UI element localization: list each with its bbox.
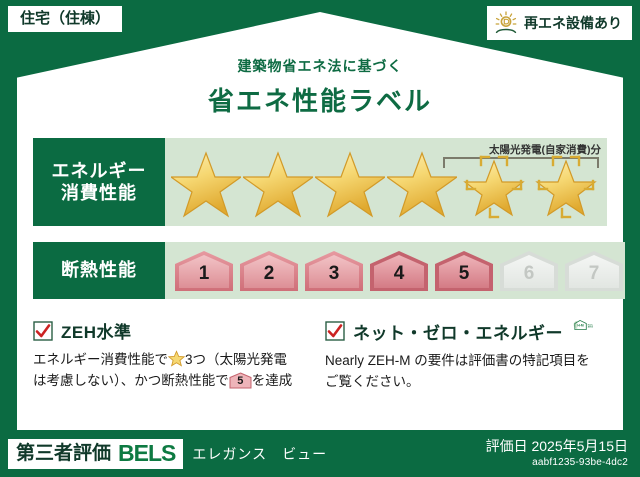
insulation-badge: 3	[303, 249, 365, 293]
nearly-zeh-m-logo-icon: H-M Nearly ZEH-M	[571, 318, 593, 344]
net-zero-energy-block: ネット・ゼロ・エネルギー H-M Nearly ZEH-M Nearly ZEH…	[325, 318, 593, 393]
checkbox-checked-icon	[325, 321, 345, 341]
checkbox-checked-icon	[33, 321, 53, 341]
insulation-performance-row: 断熱性能 1	[33, 242, 607, 299]
label-title-block: 建築物省エネ法に基づく 省エネ性能ラベル	[0, 56, 640, 118]
title-subtitle: 建築物省エネ法に基づく	[0, 56, 640, 76]
energy-label-line1: エネルギー	[52, 160, 147, 183]
star-icon-solar	[531, 145, 601, 219]
star-icon	[171, 145, 241, 219]
svg-text:ZEH-M: ZEH-M	[588, 326, 593, 328]
svg-text:H-M: H-M	[577, 323, 584, 327]
evaluation-meta: 評価日 2025年5月15日 aabf1235-93be-4dc2	[486, 438, 628, 469]
insulation-badge-inline-value: 5	[229, 372, 252, 389]
energy-label-root: 住宅（住棟） 再エネ設備あり 建築物省エネ法に基づく	[0, 0, 640, 477]
zeh-star-count: 3つ（太陽光発電	[185, 352, 287, 367]
sun-icon	[493, 10, 519, 36]
energy-performance-value: 太陽光発電(自家消費)分	[165, 138, 607, 226]
insulation-badge-value: 2	[238, 264, 300, 283]
insulation-level-badges: 1 2 3	[165, 249, 625, 293]
insulation-badge-inline: 5	[229, 372, 252, 389]
title-main: 省エネ性能ラベル	[0, 81, 640, 118]
energy-performance-key: エネルギー 消費性能	[33, 138, 165, 226]
zeh-standard-block: ZEH水準 エネルギー消費性能で3つ（太陽光発電 は考慮しない）、かつ断熱性能で…	[33, 318, 301, 392]
insulation-label: 断熱性能	[61, 259, 137, 282]
insulation-badge: 4	[368, 249, 430, 293]
footer-bar: 第三者評価 BELS エレガンス ビュー 評価日 2025年5月15日 aabf…	[0, 430, 640, 477]
insulation-performance-key: 断熱性能	[33, 242, 165, 299]
third-party-evaluation-label: 第三者評価	[16, 444, 111, 463]
star-icon-solar	[459, 145, 529, 219]
net-zero-energy-title: ネット・ゼロ・エネルギー	[353, 319, 563, 344]
bels-logo: BELS	[118, 442, 175, 465]
zeh-text-c: を達成	[252, 373, 293, 388]
insulation-badge-value: 5	[433, 264, 495, 283]
star-icon	[315, 145, 385, 219]
energy-performance-row: エネルギー 消費性能 太陽光発電(自家消費)分	[33, 138, 607, 226]
zeh-standard-description: エネルギー消費性能で3つ（太陽光発電 は考慮しない）、かつ断熱性能で5を達成	[33, 350, 301, 392]
zeh-standard-heading: ZEH水準	[33, 318, 301, 343]
insulation-badge-value: 3	[303, 264, 365, 283]
insulation-badge: 5	[433, 249, 495, 293]
insulation-badge: 2	[238, 249, 300, 293]
star-rating	[165, 145, 601, 219]
building-name: エレガンス ビュー	[192, 444, 327, 464]
net-zero-energy-heading: ネット・ゼロ・エネルギー H-M Nearly ZEH-M	[325, 318, 593, 344]
svg-text:Nearly: Nearly	[588, 323, 593, 326]
renewable-equipment-tag: 再エネ設備あり	[487, 6, 632, 40]
energy-label-line2: 消費性能	[61, 182, 137, 205]
star-icon-inline	[168, 350, 185, 367]
zeh-standard-title: ZEH水準	[61, 318, 132, 343]
star-icon	[387, 145, 457, 219]
insulation-badge-value: 7	[563, 264, 625, 283]
evaluation-date: 評価日 2025年5月15日	[486, 438, 628, 456]
house-type-tag: 住宅（住棟）	[8, 6, 122, 32]
insulation-badge-inactive: 6	[498, 249, 560, 293]
insulation-badge: 1	[173, 249, 235, 293]
evaluation-id: aabf1235-93be-4dc2	[486, 456, 628, 469]
renewable-equipment-label: 再エネ設備あり	[524, 16, 622, 30]
insulation-badge-value: 1	[173, 264, 235, 283]
star-icon	[243, 145, 313, 219]
insulation-performance-value: 1 2 3	[165, 242, 625, 299]
insulation-badge-value: 6	[498, 264, 560, 283]
bels-certification-box: 第三者評価 BELS	[8, 439, 183, 469]
insulation-badge-inactive: 7	[563, 249, 625, 293]
net-zero-energy-description: Nearly ZEH-M の要件は評価書の特記項目をご覧ください。	[325, 351, 593, 393]
insulation-badge-value: 4	[368, 264, 430, 283]
zeh-text-b: は考慮しない）、かつ断熱性能で	[33, 373, 229, 388]
zeh-text-a: エネルギー消費性能で	[33, 352, 168, 367]
